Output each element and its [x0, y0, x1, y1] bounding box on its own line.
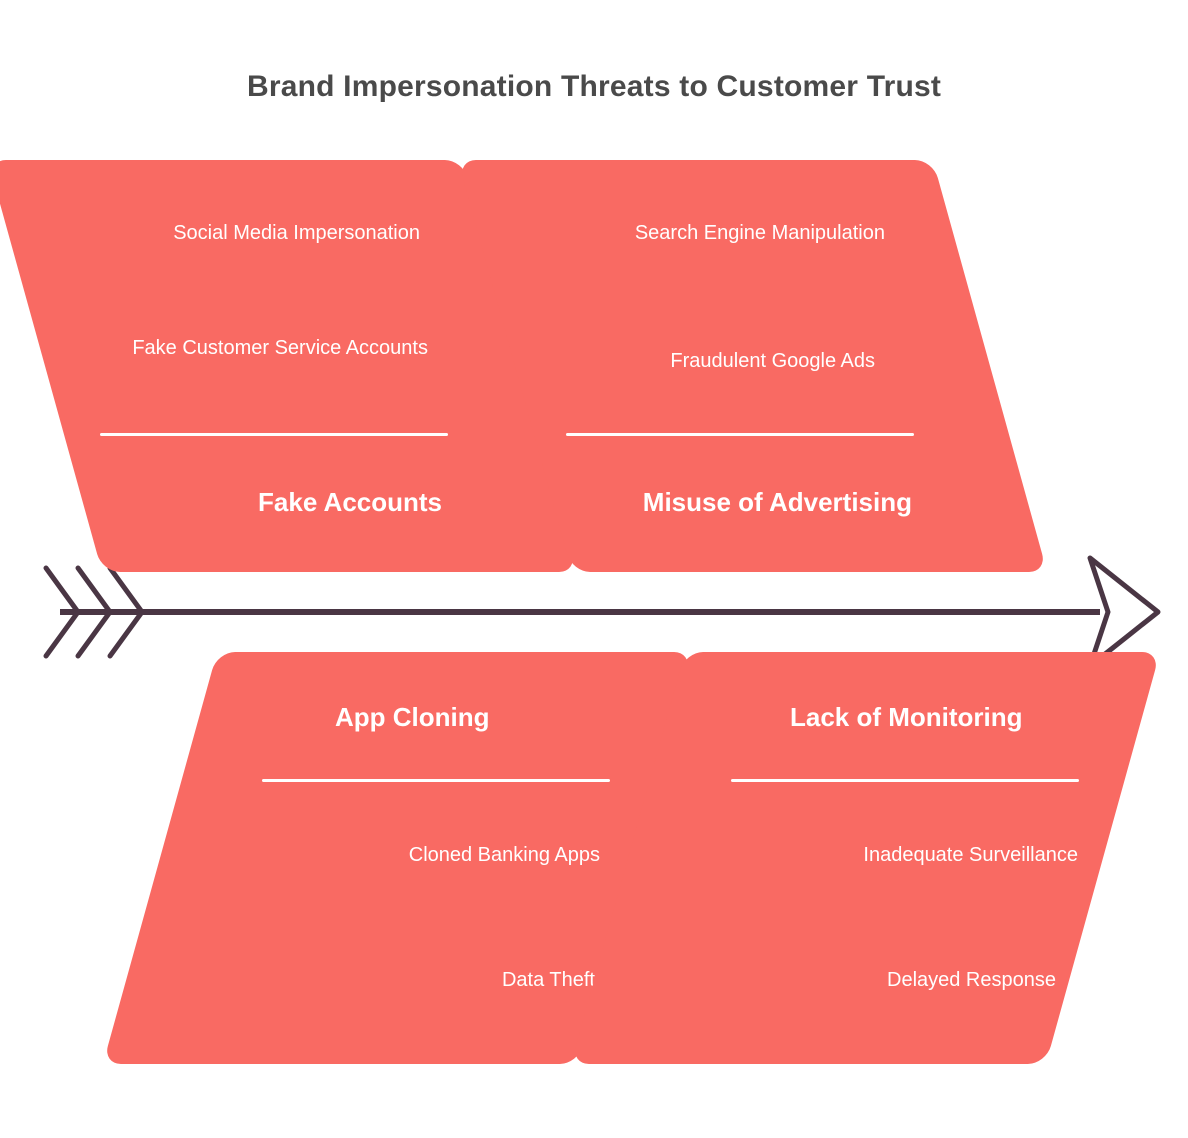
cause-item: Social Media Impersonation	[20, 220, 420, 246]
branch-category-label: App Cloning	[335, 702, 490, 733]
branch-category-label: Lack of Monitoring	[790, 702, 1023, 733]
cause-item: Fraudulent Google Ads	[555, 348, 875, 374]
fishbone-diagram-canvas: Brand Impersonation Threats to Customer …	[0, 0, 1188, 1138]
branch-divider	[100, 433, 448, 436]
branch-content: Lack of Monitoring Inadequate Surveillan…	[628, 652, 1103, 1064]
branch-category-label: Misuse of Advertising	[643, 487, 912, 518]
branch-divider	[566, 433, 914, 436]
cause-item: Search Engine Manipulation	[485, 220, 885, 246]
branch-content: Social Media Impersonation Fake Customer…	[45, 160, 520, 572]
fishbone-branch-misuse-of-advertising[interactable]: Search Engine Manipulation Fraudulent Go…	[458, 160, 1047, 572]
cause-item: Inadequate Surveillance	[758, 842, 1078, 868]
branch-divider	[731, 779, 1079, 782]
branch-category-label: Fake Accounts	[258, 487, 442, 518]
cause-item: Data Theft	[335, 967, 595, 993]
fishbone-branch-lack-of-monitoring[interactable]: Lack of Monitoring Inadequate Surveillan…	[571, 652, 1160, 1064]
branch-content: Search Engine Manipulation Fraudulent Go…	[515, 160, 990, 572]
cause-item: Cloned Banking Apps	[260, 842, 600, 868]
cause-item: Delayed Response	[776, 967, 1056, 993]
branch-divider	[262, 779, 610, 782]
page-title: Brand Impersonation Threats to Customer …	[0, 70, 1188, 104]
cause-item: Fake Customer Service Accounts	[128, 335, 428, 361]
branch-content: App Cloning Cloned Banking Apps Data The…	[160, 652, 635, 1064]
